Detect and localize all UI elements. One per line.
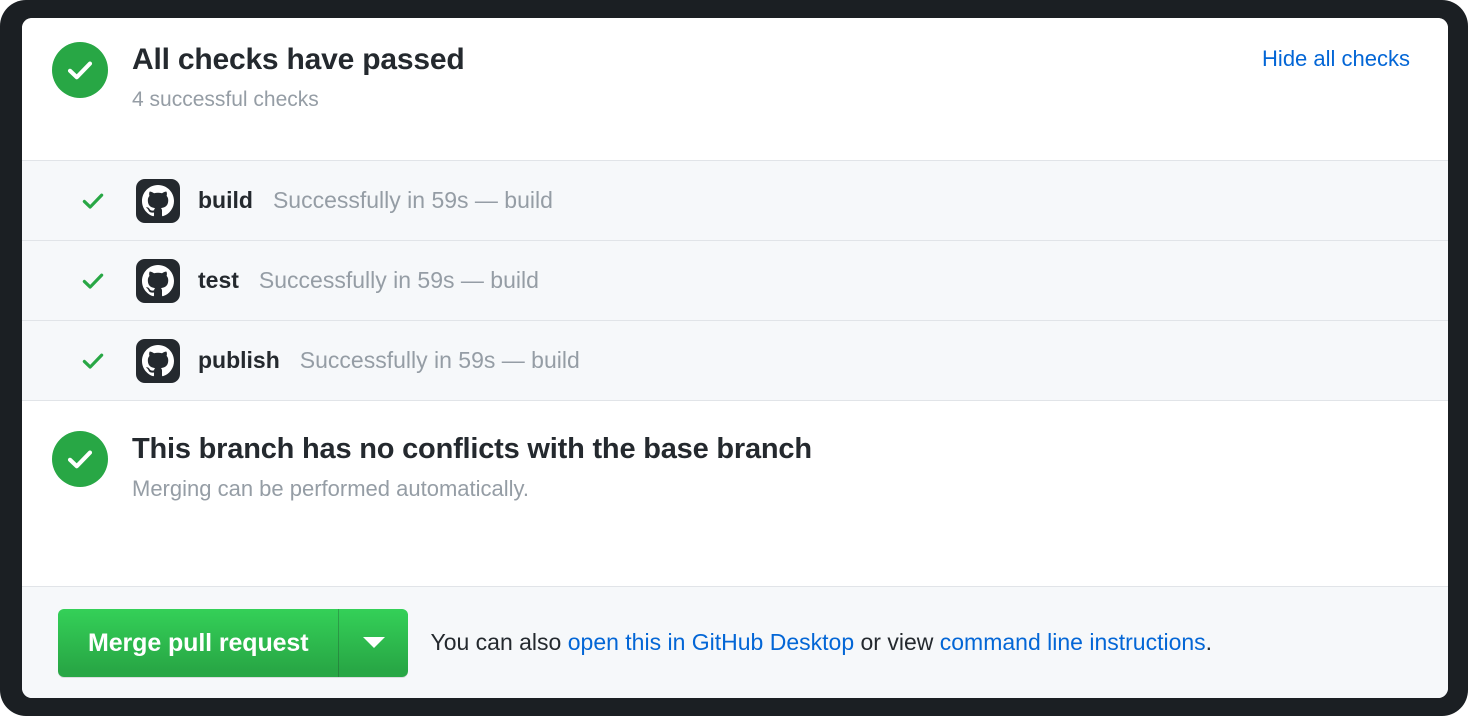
check-circle-icon — [52, 431, 108, 487]
merge-footer: Merge pull request You can also open thi… — [22, 586, 1448, 698]
merge-button-group: Merge pull request — [58, 609, 408, 677]
github-logo-icon — [136, 259, 180, 303]
header-text-block: All checks have passed 4 successful chec… — [132, 40, 464, 114]
hide-all-checks-link[interactable]: Hide all checks — [1262, 46, 1410, 72]
check-icon — [78, 268, 108, 294]
check-circle-icon — [52, 42, 108, 98]
check-name: build — [198, 187, 253, 214]
conflicts-subtitle: Merging can be performed automatically. — [132, 475, 812, 503]
check-description: Successfully in 59s — build — [259, 267, 539, 294]
table-row[interactable]: test Successfully in 59s — build — [22, 240, 1448, 320]
github-logo-icon — [136, 179, 180, 223]
merge-box-card: All checks have passed 4 successful chec… — [22, 18, 1448, 698]
table-row[interactable]: build Successfully in 59s — build — [22, 160, 1448, 240]
footer-note-suffix: . — [1206, 629, 1212, 655]
footer-note: You can also open this in GitHub Desktop… — [430, 629, 1212, 656]
github-desktop-link[interactable]: open this in GitHub Desktop — [568, 629, 854, 655]
check-icon — [78, 348, 108, 374]
check-name: test — [198, 267, 239, 294]
device-frame: All checks have passed 4 successful chec… — [0, 0, 1468, 716]
table-row[interactable]: publish Successfully in 59s — build — [22, 320, 1448, 400]
checks-summary: 4 successful checks — [132, 86, 464, 114]
checks-header: All checks have passed 4 successful chec… — [22, 18, 1448, 160]
check-icon — [78, 188, 108, 214]
chevron-down-icon — [363, 637, 385, 648]
check-description: Successfully in 59s — build — [300, 347, 580, 374]
merge-pull-request-button[interactable]: Merge pull request — [58, 609, 338, 677]
footer-note-prefix: You can also — [430, 629, 567, 655]
command-line-instructions-link[interactable]: command line instructions — [940, 629, 1206, 655]
checks-list: build Successfully in 59s — build test S… — [22, 160, 1448, 400]
footer-note-middle: or view — [854, 629, 940, 655]
page-title: All checks have passed — [132, 42, 464, 78]
github-logo-icon — [136, 339, 180, 383]
merge-options-dropdown-button[interactable] — [338, 609, 408, 677]
conflicts-title: This branch has no conflicts with the ba… — [132, 431, 812, 467]
check-description: Successfully in 59s — build — [273, 187, 553, 214]
check-name: publish — [198, 347, 280, 374]
merge-conflicts-section: This branch has no conflicts with the ba… — [22, 400, 1448, 586]
conflicts-text-block: This branch has no conflicts with the ba… — [132, 429, 812, 503]
